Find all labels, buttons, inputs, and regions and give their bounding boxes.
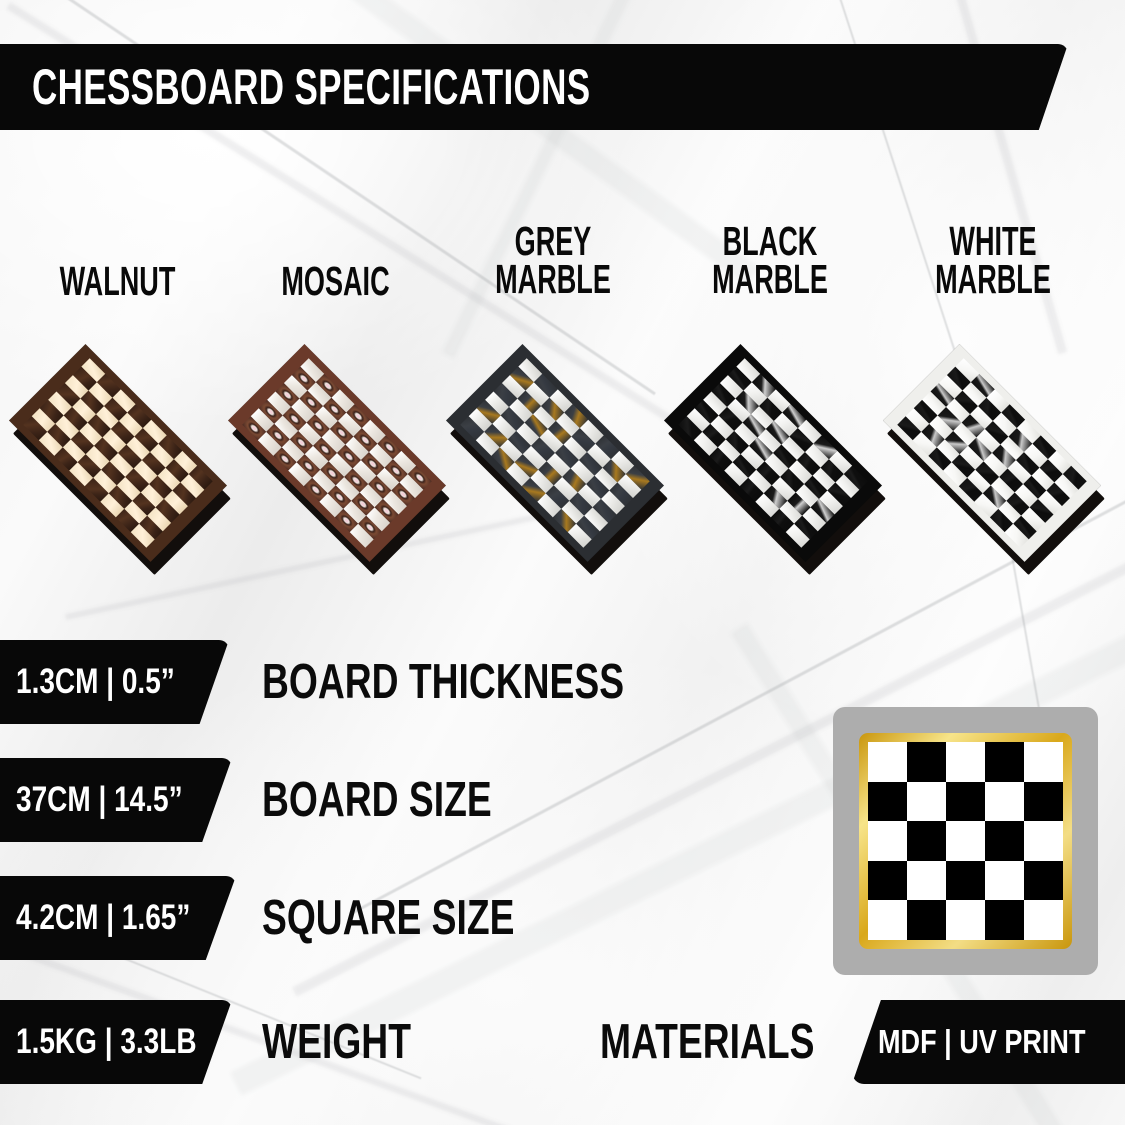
spec-label-board-size: BOARD SIZE xyxy=(262,758,492,842)
mini-board-square xyxy=(1024,861,1063,901)
mini-board-square xyxy=(946,821,985,861)
spec-label-square-size: SQUARE SIZE xyxy=(262,876,514,960)
variant-label-row: WALNUT MOSAIC GREY MARBLE BLACK MARBLE W… xyxy=(0,222,1125,332)
mini-board-square xyxy=(985,782,1024,822)
board-image-white-marble[interactable] xyxy=(877,338,1107,568)
mini-board-square xyxy=(868,782,907,822)
variant-label-walnut: WALNUT xyxy=(10,222,225,300)
spec-value-board-thickness: 1.3CM | 0.5” xyxy=(16,640,175,724)
mini-board-square xyxy=(907,821,946,861)
variant-label-grey-marble: GREY MARBLE xyxy=(443,222,663,298)
board-image-black-marble[interactable] xyxy=(658,338,888,568)
board-image-walnut[interactable] xyxy=(3,338,233,568)
mini-checkerboard xyxy=(868,742,1063,940)
mini-board-square xyxy=(868,861,907,901)
gold-border xyxy=(859,733,1072,949)
board-variants-row xyxy=(0,338,1125,573)
board-image-mosaic[interactable] xyxy=(222,338,452,568)
mini-board-square xyxy=(946,742,985,782)
board-preview-icon xyxy=(833,707,1098,975)
variant-label-white-marble: WHITE MARBLE xyxy=(878,222,1108,298)
mini-board-square xyxy=(907,861,946,901)
mini-board-square xyxy=(985,900,1024,940)
mini-board-square xyxy=(868,742,907,782)
mini-board-square xyxy=(985,861,1024,901)
infographic-page: CHESSBOARD SPECIFICATIONS WALNUT MOSAIC … xyxy=(0,0,1125,1125)
board-image-grey-marble[interactable] xyxy=(440,338,670,568)
mini-board-square xyxy=(868,900,907,940)
mini-board-square xyxy=(985,821,1024,861)
page-title: CHESSBOARD SPECIFICATIONS xyxy=(32,46,590,128)
mini-board-square xyxy=(907,900,946,940)
mini-board-square xyxy=(907,782,946,822)
mini-board-square xyxy=(946,861,985,901)
mini-board-square xyxy=(946,782,985,822)
mini-board-square xyxy=(946,900,985,940)
spec-label-board-thickness: BOARD THICKNESS xyxy=(262,640,624,724)
mini-board-square xyxy=(985,742,1024,782)
mini-board-square xyxy=(1024,742,1063,782)
variant-label-mosaic: MOSAIC xyxy=(228,222,443,300)
spec-value-square-size: 4.2CM | 1.65” xyxy=(16,876,190,960)
mini-board-square xyxy=(1024,821,1063,861)
spec-value-weight: 1.5KG | 3.3LB xyxy=(16,1000,197,1084)
spec-label-materials: MATERIALS xyxy=(600,1000,814,1084)
mini-board-square xyxy=(907,742,946,782)
spec-label-weight: WEIGHT xyxy=(262,1000,411,1084)
variant-label-black-marble: BLACK MARBLE xyxy=(660,222,880,298)
spec-value-board-size: 37CM | 14.5” xyxy=(16,758,183,842)
mini-board-square xyxy=(1024,782,1063,822)
materials-value: MDF | UV PRINT xyxy=(878,1000,1086,1084)
mini-board-square xyxy=(1024,900,1063,940)
mini-board-square xyxy=(868,821,907,861)
